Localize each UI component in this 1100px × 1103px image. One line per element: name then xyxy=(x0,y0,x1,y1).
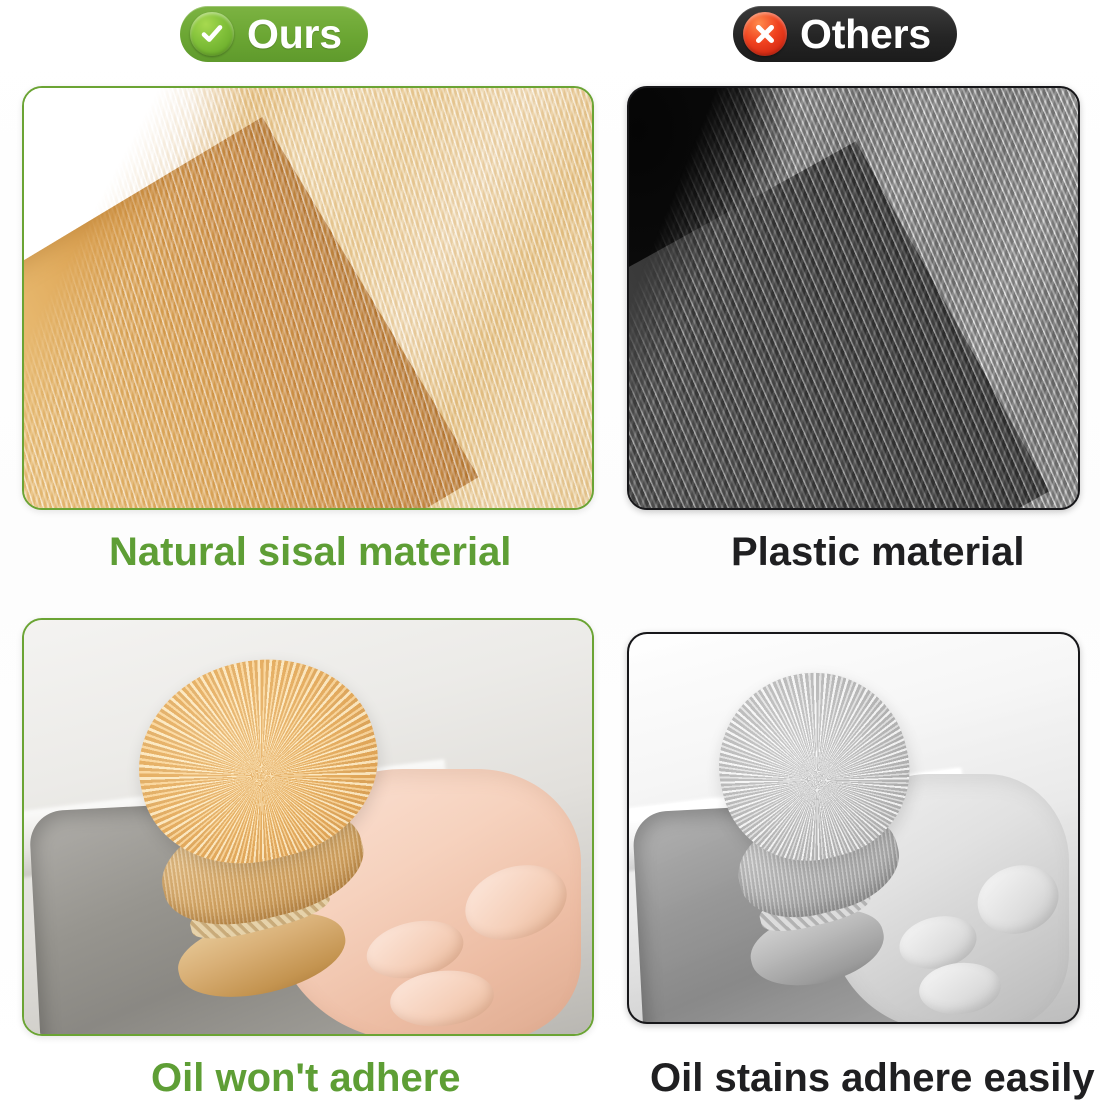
finger-index xyxy=(969,855,1068,944)
card-oil-stains-adhere xyxy=(627,632,1080,1024)
others-badge-label: Others xyxy=(800,14,931,55)
card-natural-sisal xyxy=(22,86,594,510)
x-circle-icon xyxy=(743,12,787,56)
caption-oil-stains-adhere: Oil stains adhere easily xyxy=(650,1058,1095,1098)
badge-row: Ours Others xyxy=(0,6,1100,68)
check-circle-icon xyxy=(190,12,234,56)
caption-oil-wont-adhere: Oil won't adhere xyxy=(151,1058,461,1098)
photo-plastic-brush-in-hand xyxy=(629,634,1078,1022)
ours-badge: Ours xyxy=(180,6,368,62)
caption-natural-sisal: Natural sisal material xyxy=(109,532,511,572)
caption-plastic-material: Plastic material xyxy=(731,532,1025,572)
ours-badge-label: Ours xyxy=(247,14,342,55)
photo-bamboo-brush-in-hand xyxy=(24,620,592,1034)
comparison-infographic: Ours Others xyxy=(0,0,1100,1103)
card-plastic-material xyxy=(627,86,1080,510)
card-oil-wont-adhere xyxy=(22,618,594,1036)
photo-plastic-bristles xyxy=(629,88,1078,508)
photo-natural-sisal-bristles xyxy=(24,88,592,508)
others-badge: Others xyxy=(733,6,957,62)
finger-index xyxy=(456,853,577,953)
